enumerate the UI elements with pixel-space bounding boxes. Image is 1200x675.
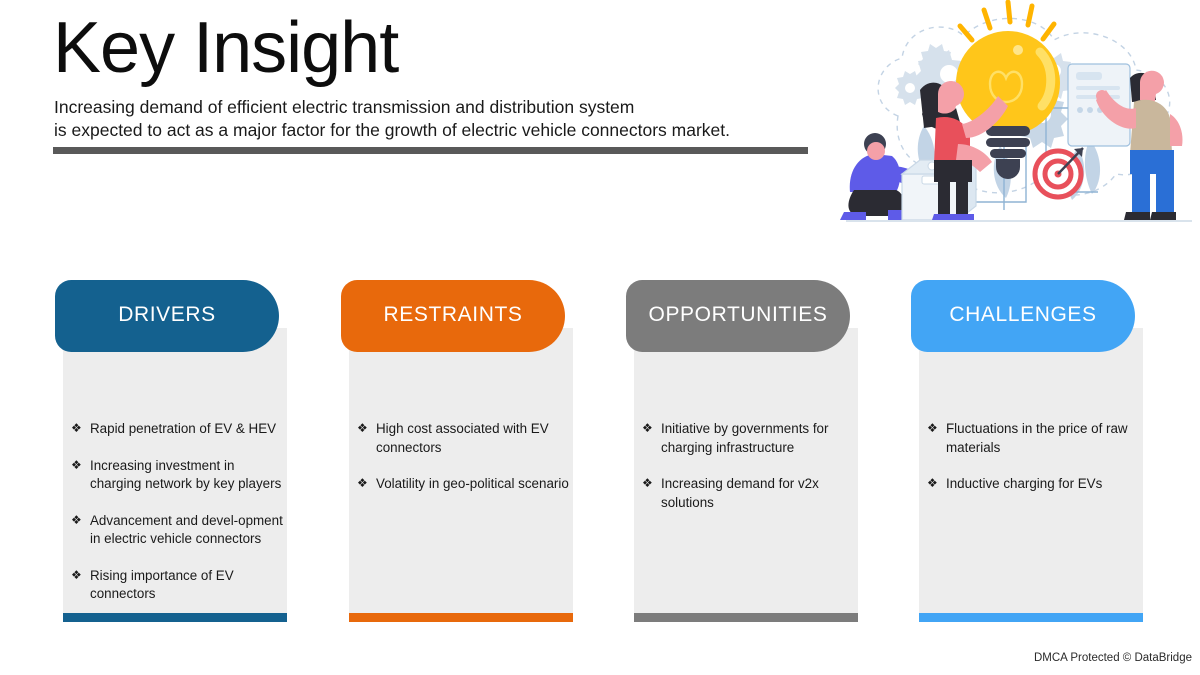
list-item-label: Increasing investment in charging networ… [90, 458, 281, 492]
card-body: ❖Fluctuations in the price of raw materi… [919, 328, 1143, 613]
card-bullet-list: ❖Rapid penetration of EV & HEV❖Increasin… [71, 420, 287, 622]
card-title: RESTRAINTS [383, 303, 522, 329]
list-item-label: Initiative by governments for charging i… [661, 421, 828, 455]
diamond-bullet-icon: ❖ [927, 419, 938, 438]
card-body: ❖Rapid penetration of EV & HEV❖Increasin… [63, 328, 287, 613]
card-body: ❖Initiative by governments for charging … [634, 328, 858, 613]
card-body: ❖High cost associated with EV connectors… [349, 328, 573, 613]
card-bullet-list: ❖High cost associated with EV connectors… [357, 420, 573, 512]
diamond-bullet-icon: ❖ [927, 474, 938, 493]
list-item: ❖Rapid penetration of EV & HEV [71, 420, 287, 439]
diamond-bullet-icon: ❖ [71, 419, 82, 438]
header-block: Key Insight Increasing demand of efficie… [0, 0, 840, 170]
card-restraints[interactable]: ❖High cost associated with EV connectors… [341, 280, 573, 628]
list-item-label: High cost associated with EV connectors [376, 421, 549, 455]
list-item: ❖Volatility in geo-political scenario [357, 475, 573, 494]
card-drivers[interactable]: ❖Rapid penetration of EV & HEV❖Increasin… [55, 280, 287, 628]
card-footer-bar [634, 613, 858, 622]
target-icon [1035, 148, 1083, 197]
page-subtitle: Increasing demand of efficient electric … [54, 96, 730, 142]
card-title: OPPORTUNITIES [649, 303, 828, 329]
diamond-bullet-icon: ❖ [71, 511, 82, 530]
card-challenges[interactable]: ❖Fluctuations in the price of raw materi… [911, 280, 1143, 628]
page-title: Key Insight [53, 8, 398, 88]
card-header[interactable]: OPPORTUNITIES [626, 280, 850, 352]
list-item-label: Increasing demand for v2x solutions [661, 476, 819, 510]
card-header[interactable]: DRIVERS [55, 280, 279, 352]
list-item: ❖Initiative by governments for charging … [642, 420, 858, 457]
diamond-bullet-icon: ❖ [642, 474, 653, 493]
list-item: ❖Inductive charging for EVs [927, 475, 1143, 494]
cards-row: ❖Rapid penetration of EV & HEV❖Increasin… [0, 280, 1200, 630]
diamond-bullet-icon: ❖ [71, 456, 82, 475]
list-item: ❖Fluctuations in the price of raw materi… [927, 420, 1143, 457]
list-item-label: Inductive charging for EVs [946, 476, 1102, 491]
list-item-label: Rapid penetration of EV & HEV [90, 421, 276, 436]
list-item: ❖High cost associated with EV connectors [357, 420, 573, 457]
slide-root: Key Insight Increasing demand of efficie… [0, 0, 1200, 675]
list-item: ❖Increasing investment in charging netwo… [71, 457, 287, 494]
dmca-footer-note: DMCA Protected © DataBridge [1034, 652, 1192, 664]
list-item: ❖Advancement and devel-opment in electri… [71, 512, 287, 549]
card-header[interactable]: CHALLENGES [911, 280, 1135, 352]
list-item-label: Volatility in geo-political scenario [376, 476, 569, 491]
diamond-bullet-icon: ❖ [71, 566, 82, 585]
card-footer-bar [63, 613, 287, 622]
card-title: CHALLENGES [949, 303, 1096, 329]
list-item-label: Advancement and devel-opment in electric… [90, 513, 283, 547]
card-header[interactable]: RESTRAINTS [341, 280, 565, 352]
card-title: DRIVERS [118, 303, 216, 329]
card-bullet-list: ❖Initiative by governments for charging … [642, 420, 858, 530]
card-footer-bar [349, 613, 573, 622]
idea-teamwork-illustration [840, 0, 1200, 236]
diamond-bullet-icon: ❖ [357, 474, 368, 493]
card-footer-bar [919, 613, 1143, 622]
list-item: ❖Increasing demand for v2x solutions [642, 475, 858, 512]
title-divider-rule [53, 147, 808, 154]
list-item: ❖Rising importance of EV connectors [71, 567, 287, 604]
diamond-bullet-icon: ❖ [357, 419, 368, 438]
card-bullet-list: ❖Fluctuations in the price of raw materi… [927, 420, 1143, 512]
list-item-label: Fluctuations in the price of raw materia… [946, 421, 1128, 455]
list-item-label: Rising importance of EV connectors [90, 568, 234, 602]
card-opportunities[interactable]: ❖Initiative by governments for charging … [626, 280, 858, 628]
diamond-bullet-icon: ❖ [642, 419, 653, 438]
